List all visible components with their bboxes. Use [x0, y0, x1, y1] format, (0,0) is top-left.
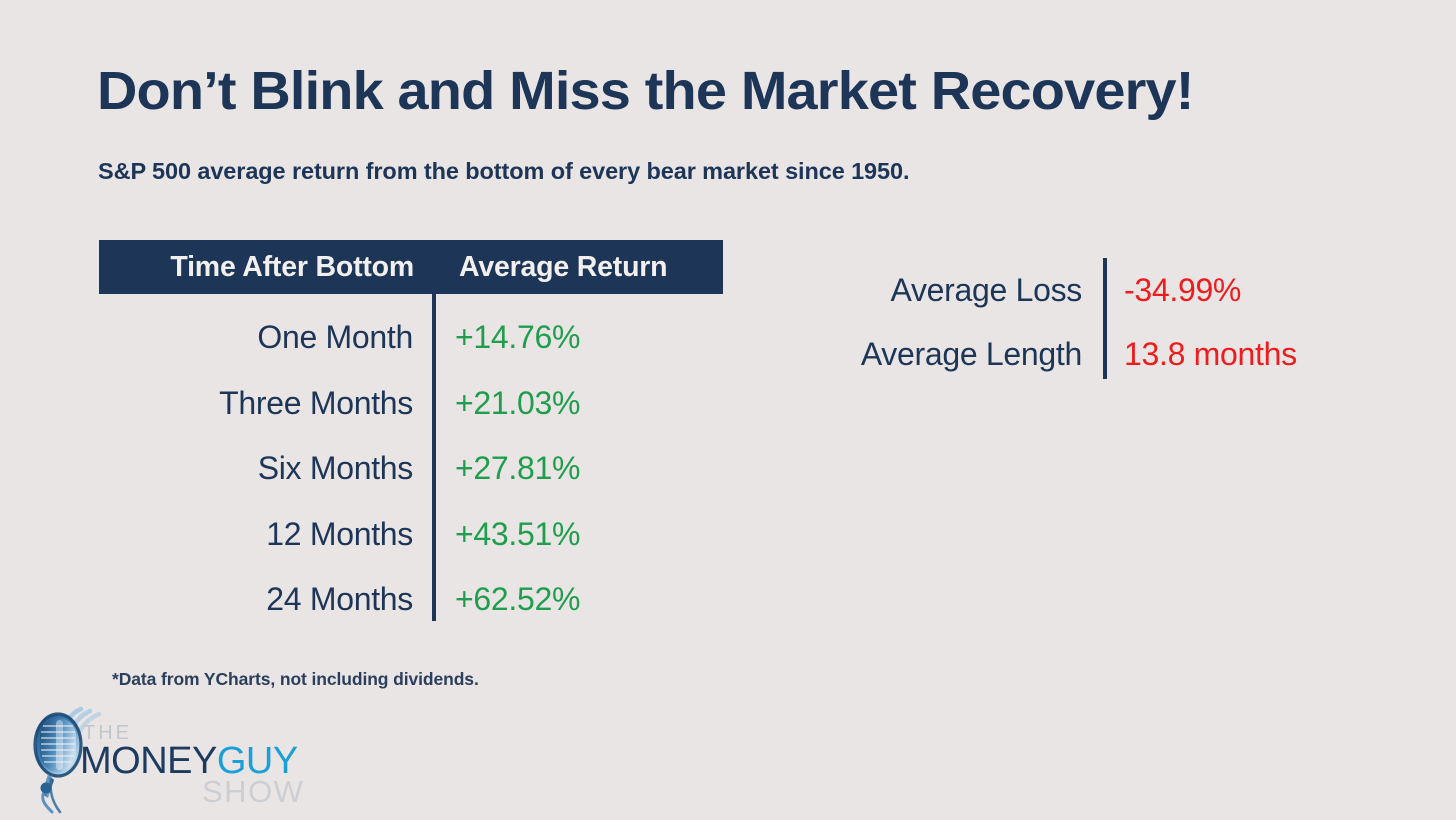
table-column-divider	[432, 294, 436, 621]
table-row: 24 Months +62.52%	[99, 567, 723, 633]
row-value: +14.76%	[432, 319, 723, 356]
summary-row: Average Length 13.8 months	[820, 322, 1382, 386]
row-label: One Month	[99, 319, 432, 356]
table-row: One Month +14.76%	[99, 305, 723, 371]
summary-panel: Average Loss -34.99% Average Length 13.8…	[820, 258, 1382, 386]
column-header-time-after-bottom: Time After Bottom	[99, 251, 435, 284]
row-value: +62.52%	[432, 581, 723, 618]
summary-divider	[1103, 258, 1107, 379]
summary-value: 13.8 months	[1082, 336, 1382, 373]
summary-row: Average Loss -34.99%	[820, 258, 1382, 322]
returns-table: Time After Bottom Average Return One Mon…	[99, 240, 723, 633]
table-row: Six Months +27.81%	[99, 436, 723, 502]
row-label: Six Months	[99, 450, 432, 487]
page-title: Don’t Blink and Miss the Market Recovery…	[97, 62, 1194, 120]
row-value: +21.03%	[432, 385, 723, 422]
logo-show-text: SHOW	[202, 774, 304, 810]
column-header-average-return: Average Return	[435, 251, 723, 284]
footnote: *Data from YCharts, not including divide…	[112, 669, 479, 690]
logo-money-text: MONEY	[80, 740, 217, 782]
row-label: 24 Months	[99, 581, 432, 618]
table-row: Three Months +21.03%	[99, 371, 723, 437]
row-label: 12 Months	[99, 516, 432, 553]
row-label: Three Months	[99, 385, 432, 422]
moneyguy-show-logo: THE MONEYGUY SHOW	[18, 702, 308, 814]
table-row: 12 Months +43.51%	[99, 502, 723, 568]
table-body: One Month +14.76% Three Months +21.03% S…	[99, 294, 723, 633]
logo-wordmark: THE MONEYGUY SHOW	[80, 722, 310, 812]
row-value: +43.51%	[432, 516, 723, 553]
table-header-row: Time After Bottom Average Return	[99, 240, 723, 294]
summary-label: Average Loss	[820, 272, 1082, 309]
summary-label: Average Length	[820, 336, 1082, 373]
page-subtitle: S&P 500 average return from the bottom o…	[98, 158, 909, 185]
summary-value: -34.99%	[1082, 272, 1382, 309]
row-value: +27.81%	[432, 450, 723, 487]
